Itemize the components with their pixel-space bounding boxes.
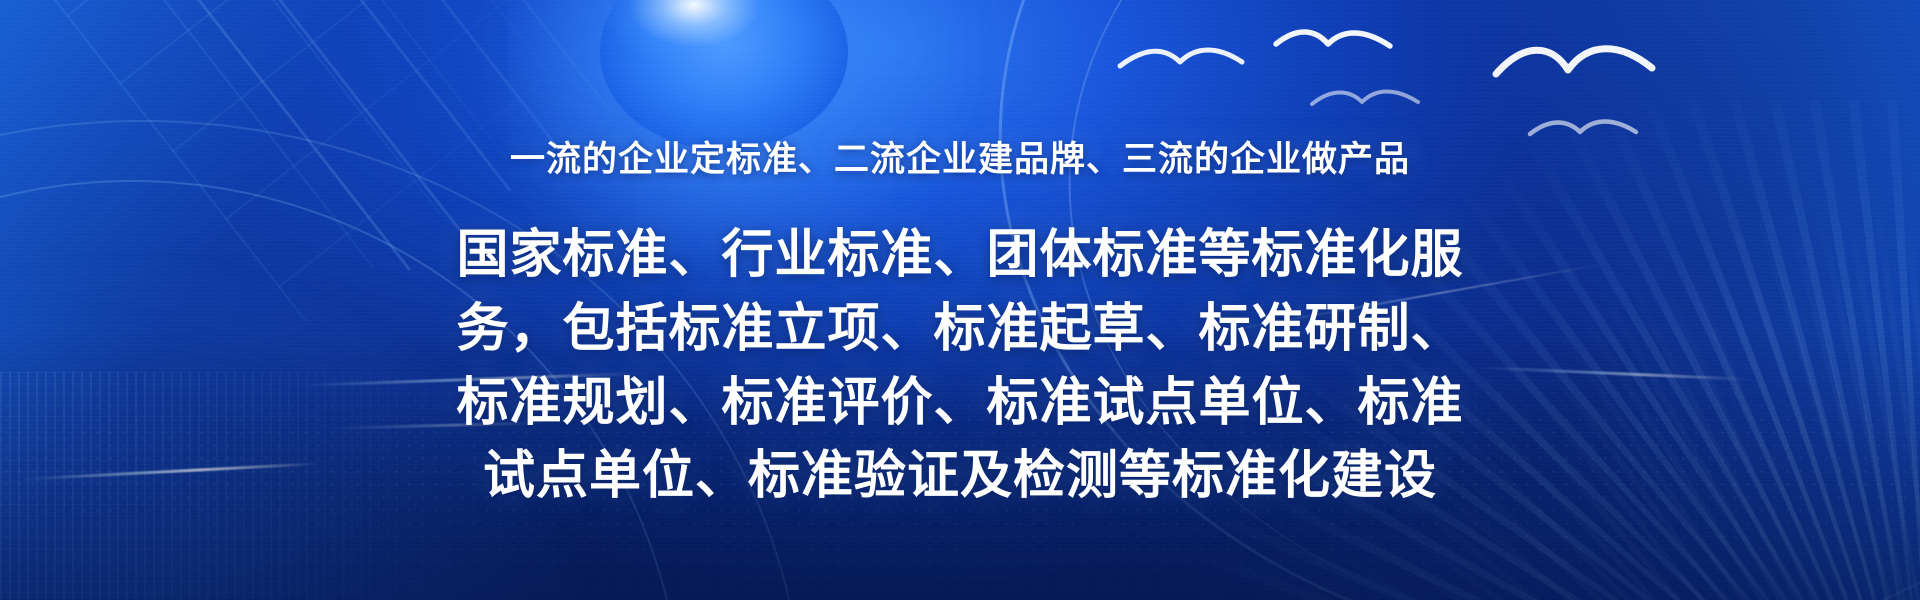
banner-body-line: 务，包括标准立项、标准起草、标准研制、 <box>310 293 1610 367</box>
banner-headline: 一流的企业定标准、二流企业建品牌、三流的企业做产品 <box>0 139 1920 181</box>
banner-body-line: 标准规划、标准评价、标准试点单位、标准 <box>310 367 1610 441</box>
promo-banner: 一流的企业定标准、二流企业建品牌、三流的企业做产品 国家标准、行业标准、团体标准… <box>0 0 1920 600</box>
banner-body-text: 国家标准、行业标准、团体标准等标准化服 务，包括标准立项、标准起草、标准研制、 … <box>310 219 1610 514</box>
banner-body-line: 试点单位、标准验证及检测等标准化建设 <box>310 440 1610 514</box>
banner-body-line: 国家标准、行业标准、团体标准等标准化服 <box>310 219 1610 293</box>
banner-content: 一流的企业定标准、二流企业建品牌、三流的企业做产品 国家标准、行业标准、团体标准… <box>0 0 1920 514</box>
